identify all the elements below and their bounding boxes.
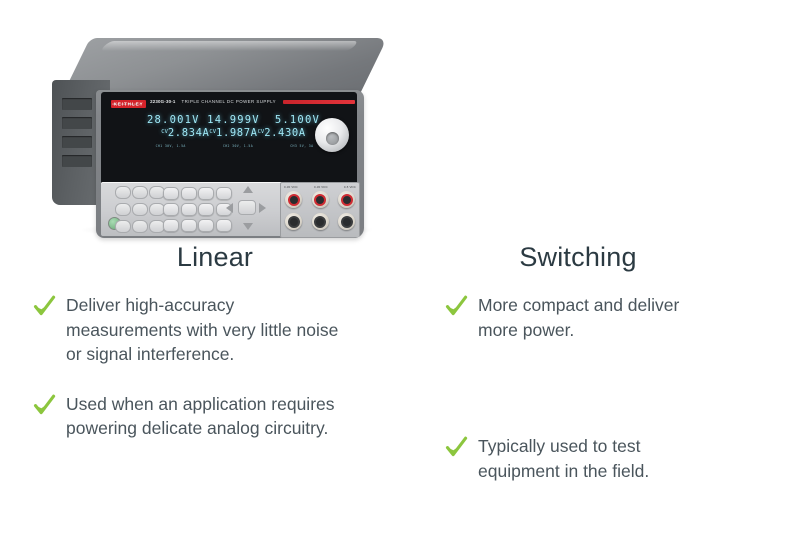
list-item: Deliver high-accuracy measurements with … [33, 293, 343, 367]
terminal-label-ch3: 0-5 VDC [344, 185, 356, 189]
terminal-label-ch1: 0-30 VDC [284, 185, 298, 189]
comparison-columns: KEITHLEY A Tektronix Company 2230G-30-1 … [0, 0, 800, 536]
linear-psu-side-vents [62, 98, 92, 168]
arrow-right-icon[interactable] [259, 203, 266, 213]
terminal-row-positive [285, 191, 355, 208]
arrow-up-icon[interactable] [243, 186, 253, 193]
vfd-channel-label-3: CH3 5V, 3A [290, 144, 313, 148]
bullet-list-switching: More compact and deliver more power. Typ… [445, 293, 715, 508]
vfd-voltage-row: 28.001V 14.999V 5.100V [131, 114, 336, 126]
brand-red-stripe [283, 100, 355, 104]
list-item: More compact and deliver more power. [445, 293, 715, 342]
vfd-channel-labels: CH1 30V, 1.5A CH2 30V, 1.5A CH3 5V, 3A [137, 144, 332, 148]
vfd-current-1: 2.834A [168, 127, 210, 139]
heading-switching: Switching [430, 242, 800, 273]
binding-post-positive-ch3[interactable] [338, 191, 355, 208]
list-item: Used when an application requires poweri… [33, 392, 343, 441]
binding-post-positive-ch1[interactable] [285, 191, 302, 208]
linear-psu-softkeys[interactable] [115, 186, 163, 233]
bullet-list-linear: Deliver high-accuracy measurements with … [33, 293, 343, 466]
comparison-graphic: KEITHLEY A Tektronix Company 2230G-30-1 … [0, 0, 800, 536]
arrow-down-icon[interactable] [243, 223, 253, 230]
list-item-text: Used when an application requires poweri… [66, 392, 343, 441]
vfd-current-3: 2.430A [264, 127, 306, 139]
binding-post-negative-ch1[interactable] [285, 213, 302, 230]
linear-power-supply-image: KEITHLEY A Tektronix Company 2230G-30-1 … [52, 38, 367, 223]
check-icon [445, 435, 468, 459]
linear-psu-rotary-knob[interactable] [315, 118, 349, 152]
terminal-label-ch2: 0-30 VDC [314, 185, 328, 189]
check-icon [445, 294, 468, 318]
binding-post-negative-ch3[interactable] [338, 213, 355, 230]
linear-psu-front-panel: KEITHLEY A Tektronix Company 2230G-30-1 … [96, 90, 364, 238]
vfd-current-2: 1.987A [216, 127, 258, 139]
terminal-row-negative [285, 213, 355, 230]
column-switching: KEITHLEY 2260B-80-27 Multi-Range DC Powe… [430, 0, 800, 536]
terminal-voltage-labels: 0-30 VDC 0-30 VDC 0-5 VDC [284, 185, 356, 189]
list-item-text: Deliver high-accuracy measurements with … [66, 293, 343, 367]
vfd-current-row: ​CV2.834ACV1.987ACV2.430A [131, 127, 336, 139]
check-icon [33, 393, 56, 417]
linear-psu-navigation-pad[interactable] [226, 186, 266, 230]
tektronix-subbrand: A Tektronix Company [112, 103, 140, 106]
heading-linear: Linear [0, 242, 430, 273]
vfd-channel-label-1: CH1 30V, 1.5A [156, 144, 186, 148]
linear-psu-output-terminals: 0-30 VDC 0-30 VDC 0-5 VDC [280, 182, 360, 238]
column-linear: KEITHLEY A Tektronix Company 2230G-30-1 … [0, 0, 430, 536]
linear-psu-top-highlight [99, 41, 359, 51]
linear-psu-title: TRIPLE CHANNEL DC POWER SUPPLY [182, 99, 277, 104]
vfd-cv-flag-1: CV [161, 129, 168, 135]
arrow-left-icon[interactable] [226, 203, 233, 213]
enter-button[interactable] [238, 200, 256, 215]
vfd-channel-label-2: CH2 30V, 1.5A [223, 144, 253, 148]
binding-post-positive-ch2[interactable] [312, 191, 329, 208]
list-item: Typically used to test equipment in the … [445, 434, 715, 483]
list-item-text: More compact and deliver more power. [478, 293, 715, 342]
check-icon [33, 294, 56, 318]
linear-psu-vfd-display: 28.001V 14.999V 5.100V ​CV2.834ACV1.987A… [131, 114, 336, 139]
list-item-text: Typically used to test equipment in the … [478, 434, 715, 483]
linear-psu-model: 2230G-30-1 [150, 99, 175, 104]
linear-psu-keypad[interactable] [163, 187, 230, 232]
binding-post-negative-ch2[interactable] [312, 213, 329, 230]
linear-psu-brand-bar: KEITHLEY A Tektronix Company 2230G-30-1 … [111, 96, 355, 107]
